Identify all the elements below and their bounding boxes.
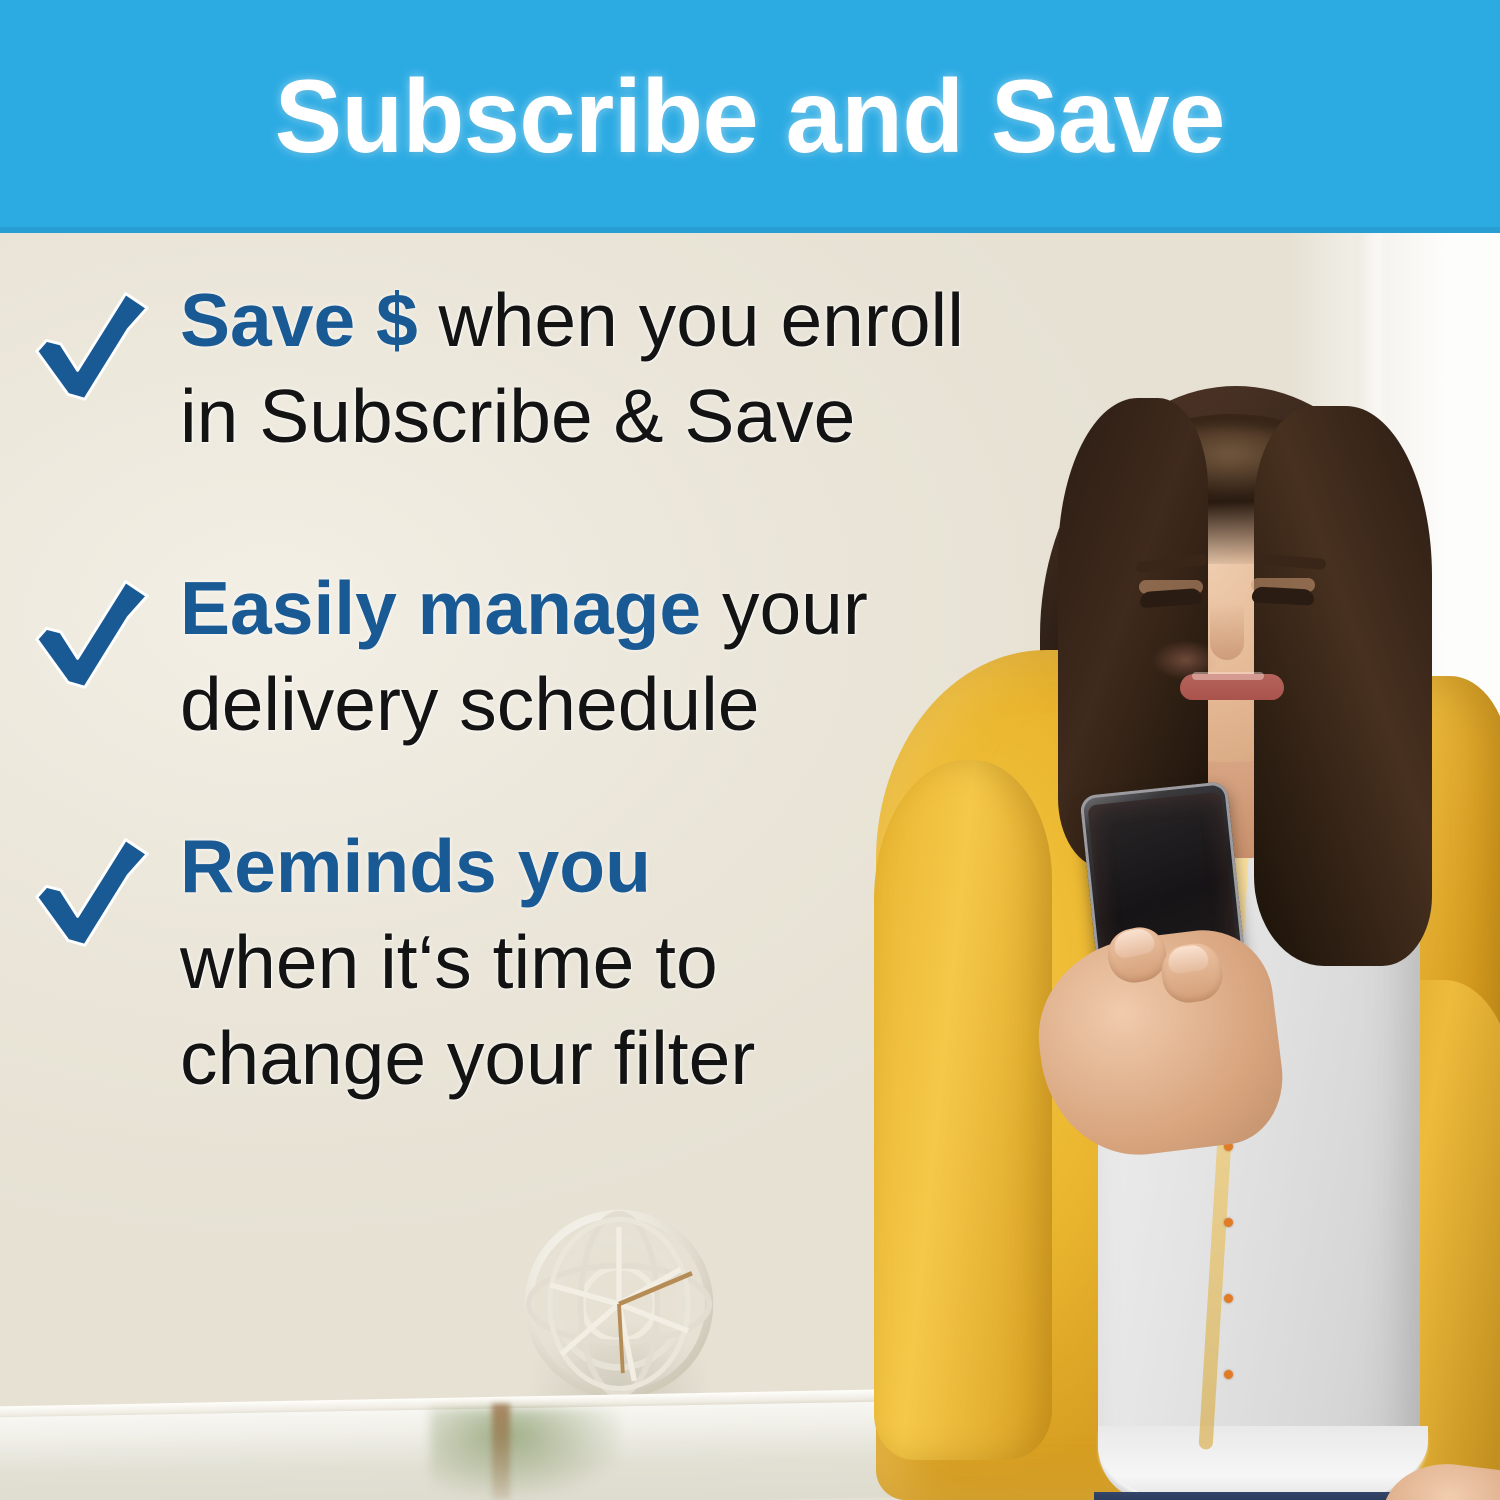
tshirt-hem xyxy=(1098,1426,1428,1500)
bullet-line: delivery schedule xyxy=(180,656,1120,752)
list-item: Reminds you when it‘s time to change you… xyxy=(0,818,1120,1106)
list-item: Save $ when you enroll in Subscribe & Sa… xyxy=(0,272,1120,464)
regular-text: your xyxy=(701,566,868,650)
header-banner: Subscribe and Save xyxy=(0,0,1500,233)
highlight-text: Reminds you xyxy=(180,824,651,908)
benefits-list: Save $ when you enroll in Subscribe & Sa… xyxy=(0,250,1120,1106)
lip-highlight xyxy=(1192,672,1264,680)
table-reflection-brown xyxy=(492,1404,510,1500)
highlight-text: Save $ xyxy=(180,278,418,362)
regular-text: change your filter xyxy=(180,1016,755,1100)
bullet-line: Save $ when you enroll xyxy=(180,272,1120,368)
bullet-line: Easily manage your xyxy=(180,560,1120,656)
checkmark-icon xyxy=(32,830,152,950)
checkmark-icon xyxy=(32,284,152,404)
table-reflection-green xyxy=(430,1408,620,1496)
bullet-line: in Subscribe & Save xyxy=(180,368,1120,464)
regular-text: delivery schedule xyxy=(180,662,760,746)
bullet-line: when it‘s time to xyxy=(180,914,1120,1010)
bullet-line: Reminds you xyxy=(180,818,1120,914)
decorative-sphere-icon xyxy=(523,1206,715,1402)
highlight-text: Easily manage xyxy=(180,566,701,650)
checkmark-icon xyxy=(32,572,152,692)
list-item: Easily manage your delivery schedule xyxy=(0,560,1120,752)
subscribe-and-save-poster: Subscribe and Save Save $ when you enrol… xyxy=(0,0,1500,1500)
regular-text: in Subscribe & Save xyxy=(180,374,855,458)
page-title: Subscribe and Save xyxy=(275,65,1225,169)
regular-text: when it‘s time to xyxy=(180,920,718,1004)
nose xyxy=(1210,602,1244,660)
bullet-line: change your filter xyxy=(180,1010,1120,1106)
regular-text: when you enroll xyxy=(418,278,964,362)
eye-right xyxy=(1252,586,1315,605)
